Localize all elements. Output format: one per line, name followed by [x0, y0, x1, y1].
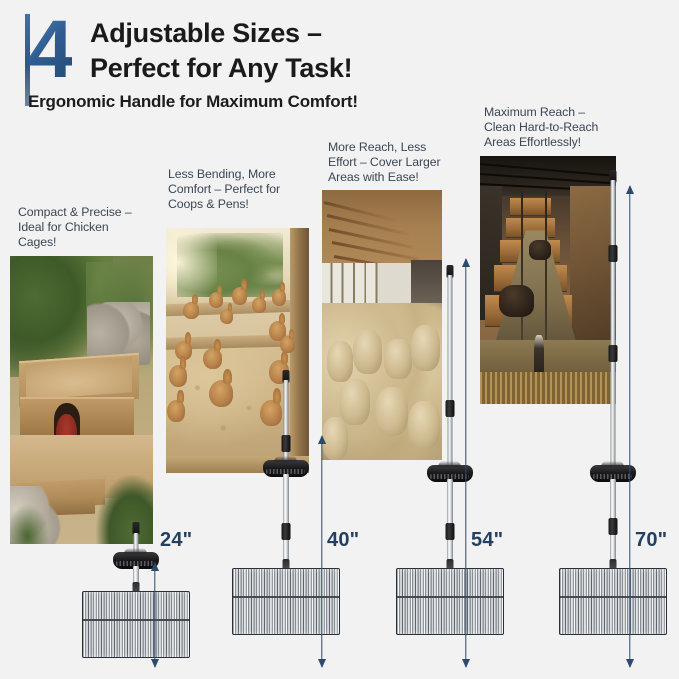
- pole-upper-section: [447, 275, 452, 465]
- headline-number: 4: [28, 6, 72, 94]
- caption-variant-24: Compact & Precise – Ideal for Chicken Ca…: [18, 205, 148, 251]
- subtitle: Ergonomic Handle for Maximum Comfort!: [28, 92, 358, 112]
- locking-collar-lower: [281, 523, 290, 540]
- infographic-canvas: 4 Adjustable Sizes – Perfect for Any Tas…: [0, 0, 679, 679]
- photo-variant-24: [10, 256, 153, 544]
- locking-collar: [445, 400, 454, 417]
- caption-variant-54: More Reach, Less Effort – Cover Larger A…: [328, 140, 458, 186]
- rake-head: [82, 591, 190, 658]
- photo-variant-70: [480, 156, 616, 404]
- measure-label-70: 70": [635, 529, 667, 552]
- pole-lower-section: [283, 474, 289, 568]
- measure-arrow-24: [149, 563, 161, 667]
- locking-collar: [281, 435, 290, 452]
- measure-arrow-70: [624, 186, 636, 667]
- measure-label-24: 24": [160, 529, 192, 552]
- locking-collar-upper: [608, 245, 617, 262]
- pole-upper-section: [610, 180, 615, 465]
- measure-label-54: 54": [471, 529, 503, 552]
- rake-head: [396, 568, 504, 635]
- headline-line-2: Perfect for Any Task!: [90, 53, 352, 84]
- caption-variant-70: Maximum Reach – Clean Hard-to-Reach Area…: [484, 105, 619, 151]
- headline-line-1: Adjustable Sizes –: [90, 18, 322, 49]
- caption-variant-40: Less Bending, More Comfort – Perfect for…: [168, 167, 308, 213]
- measure-arrow-54: [460, 259, 472, 667]
- measure-label-40: 40": [327, 529, 359, 552]
- header: 4 Adjustable Sizes – Perfect for Any Tas…: [0, 0, 679, 120]
- locking-collar-lower: [445, 523, 454, 540]
- locking-collar-lower: [608, 518, 617, 535]
- locking-collar: [608, 345, 617, 362]
- rake-head: [559, 568, 667, 635]
